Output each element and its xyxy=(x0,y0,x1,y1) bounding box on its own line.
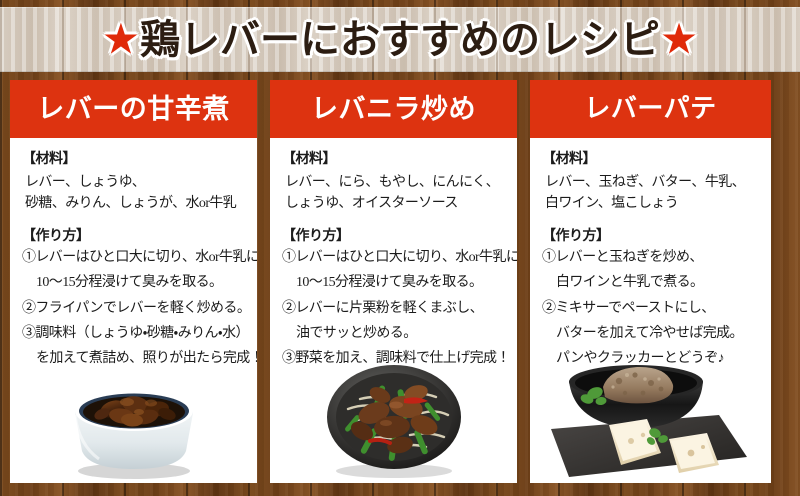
method-step-continuation: 10〜15分程浸けて臭みを取る。 xyxy=(296,273,507,293)
banner: ★ 鶏レバーにおすすめのレシピ ★ xyxy=(0,7,800,72)
recipe-card: レバーパテ 【材料】 レバー、玉ねぎ、バター、牛乳、 白ワイン、塩こしょう 【作… xyxy=(530,80,771,483)
banner-title-text: 鶏レバーにおすすめのレシピ xyxy=(140,20,660,60)
ingredient-line: しょうゆ、オイスターソース xyxy=(285,193,507,214)
ingredient-line: レバー、玉ねぎ、バター、牛乳、 xyxy=(545,172,761,193)
ingredient-line: 砂糖、みりん、しょうが、水or牛乳 xyxy=(25,193,247,214)
ingredients-label: 【材料】 xyxy=(282,151,507,169)
card-header: レバーの甘辛煮 xyxy=(10,80,257,138)
ingredients-label: 【材料】 xyxy=(542,151,761,169)
ingredients-label: 【材料】 xyxy=(22,151,247,169)
method-label: 【作り方】 xyxy=(282,228,507,246)
recipe-photo xyxy=(270,353,517,483)
ingredient-line: レバー、しょうゆ、 xyxy=(25,172,247,193)
method-step: ②ミキサーでペーストにし、 xyxy=(542,299,761,319)
card-title: レバーの甘辛煮 xyxy=(37,96,230,123)
star-left-icon: ★ xyxy=(104,21,138,59)
method-step: ①レバーと玉ねぎを炒め、 xyxy=(542,248,761,268)
recipe-card: レバーの甘辛煮 【材料】 レバー、しょうゆ、 砂糖、みりん、しょうが、水or牛乳… xyxy=(10,80,257,483)
banner-title: ★ 鶏レバーにおすすめのレシピ ★ xyxy=(104,20,696,60)
recipe-photo xyxy=(10,353,257,483)
ingredient-line: 白ワイン、塩こしょう xyxy=(545,193,761,214)
recipe-card-list: レバーの甘辛煮 【材料】 レバー、しょうゆ、 砂糖、みりん、しょうが、水or牛乳… xyxy=(10,80,785,483)
card-header: レバーパテ xyxy=(530,80,771,138)
recipe-card: レバニラ炒め 【材料】 レバー、にら、もやし、にんにく、 しょうゆ、オイスターソ… xyxy=(270,80,517,483)
card-body: 【材料】 レバー、玉ねぎ、バター、牛乳、 白ワイン、塩こしょう 【作り方】 ①レ… xyxy=(530,138,771,483)
method-label: 【作り方】 xyxy=(22,228,247,246)
method-step-continuation: 10〜15分程浸けて臭みを取る。 xyxy=(36,273,247,293)
method-step-continuation: バターを加えて冷やせば完成。 xyxy=(556,324,761,344)
method-label: 【作り方】 xyxy=(542,228,761,246)
card-body: 【材料】 レバー、にら、もやし、にんにく、 しょうゆ、オイスターソース 【作り方… xyxy=(270,138,517,483)
method-step: ③調味料（しょうゆ・砂糖・みりん・水） xyxy=(22,324,247,344)
method-step: ②フライパンでレバーを軽く炒める。 xyxy=(22,299,247,319)
method-step: ②レバーに片栗粉を軽くまぶし、 xyxy=(282,299,507,319)
card-title: レバニラ炒め xyxy=(311,96,476,123)
recipe-infographic: ★ 鶏レバーにおすすめのレシピ ★ レバーの甘辛煮 【材料】 レバー、しょうゆ、… xyxy=(0,0,800,496)
method-step: ①レバーはひと口大に切り、水or牛乳に xyxy=(22,248,247,268)
ingredient-line: レバー、にら、もやし、にんにく、 xyxy=(285,172,507,193)
star-right-icon: ★ xyxy=(662,21,696,59)
recipe-photo xyxy=(530,353,771,483)
method-step-continuation: 白ワインと牛乳で煮る。 xyxy=(556,273,761,293)
card-body: 【材料】 レバー、しょうゆ、 砂糖、みりん、しょうが、水or牛乳 【作り方】 ①… xyxy=(10,138,257,483)
card-header: レバニラ炒め xyxy=(270,80,517,138)
card-title: レバーパテ xyxy=(584,96,716,122)
method-step-continuation: 油でサッと炒める。 xyxy=(296,324,507,344)
method-step: ①レバーはひと口大に切り、水or牛乳に xyxy=(282,248,507,268)
